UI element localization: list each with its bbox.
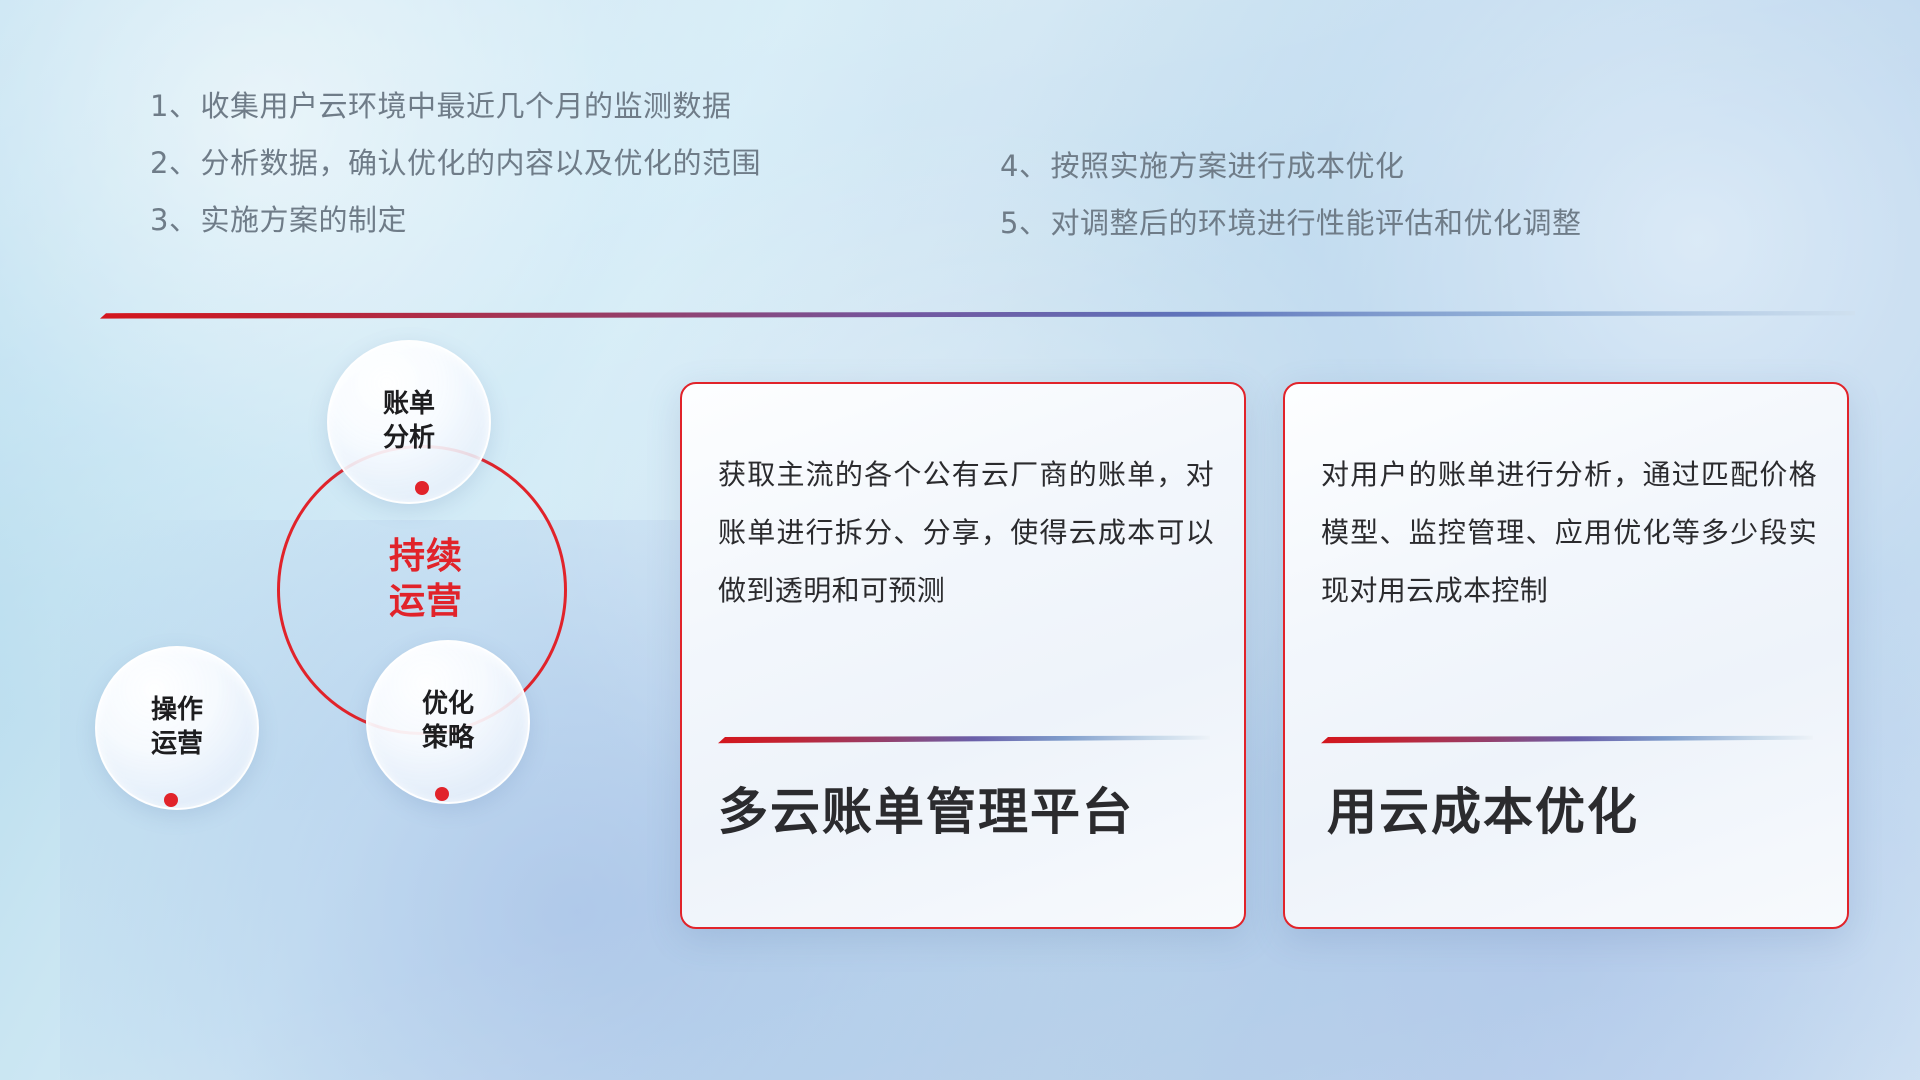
diagram-center-label-line1: 持续 [331, 534, 521, 579]
step-item-2: 2、分析数据，确认优化的内容以及优化的范围 [150, 149, 761, 178]
diagram-bubble-optimization-strategy[interactable]: 优化 策略 [366, 640, 530, 804]
bubble-label-line2: 分析 [383, 422, 435, 456]
slide-root: 1、收集用户云环境中最近几个月的监测数据 2、分析数据，确认优化的内容以及优化的… [0, 0, 1920, 1080]
step-text-1: 收集用户云环境中最近几个月的监测数据 [200, 89, 731, 123]
step-text-3: 实施方案的制定 [200, 203, 407, 237]
card-title: 用云成本优化 [1327, 784, 1819, 842]
diagram-node-dot-top-icon [415, 481, 429, 495]
info-card-multicloud-billing[interactable]: 获取主流的各个公有云厂商的账单，对账单进行拆分、分享，使得云成本可以做到透明和可… [680, 382, 1246, 929]
continuous-operation-diagram: 持续 运营 账单 分析 操作 运营 优化 策略 [95, 340, 615, 940]
step-item-3: 3、实施方案的制定 [150, 206, 761, 235]
info-card-cloud-cost-optimization[interactable]: 对用户的账单进行分析，通过匹配价格模型、监控管理、应用优化等多少段实现对用云成本… [1283, 382, 1849, 929]
step-item-5: 5、对调整后的环境进行性能评估和优化调整 [1000, 209, 1581, 238]
steps-list-right: 4、按照实施方案进行成本优化 5、对调整后的环境进行性能评估和优化调整 [1000, 152, 1581, 238]
bubble-label-line2: 策略 [422, 722, 474, 756]
bubble-label-line2: 运营 [151, 728, 203, 762]
step-item-1: 1、收集用户云环境中最近几个月的监测数据 [150, 92, 761, 121]
step-text-2: 分析数据，确认优化的内容以及优化的范围 [200, 146, 761, 180]
step-text-4: 按照实施方案进行成本优化 [1050, 149, 1404, 183]
step-number-2: 2、 [150, 146, 198, 180]
step-item-4: 4、按照实施方案进行成本优化 [1000, 152, 1581, 181]
bubble-label-line1: 优化 [422, 688, 474, 722]
diagram-node-dot-left-icon [164, 793, 178, 807]
card-title: 多云账单管理平台 [718, 784, 1216, 842]
bubble-label-line1: 操作 [151, 694, 203, 728]
step-number-4: 4、 [1000, 149, 1048, 183]
step-text-5: 对调整后的环境进行性能评估和优化调整 [1050, 206, 1581, 240]
card-accent-rule [1321, 735, 1813, 744]
diagram-bubble-bill-analysis[interactable]: 账单 分析 [327, 340, 491, 504]
card-body-text: 获取主流的各个公有云厂商的账单，对账单进行拆分、分享，使得云成本可以做到透明和可… [718, 446, 1214, 621]
step-number-5: 5、 [1000, 206, 1048, 240]
diagram-node-dot-right-icon [435, 787, 449, 801]
diagram-center-label-line2: 运营 [331, 579, 521, 624]
card-body-text: 对用户的账单进行分析，通过匹配价格模型、监控管理、应用优化等多少段实现对用云成本… [1321, 446, 1817, 621]
step-number-3: 3、 [150, 203, 198, 237]
diagram-center-label: 持续 运营 [331, 534, 521, 625]
section-divider [100, 311, 1855, 320]
diagram-bubble-operations[interactable]: 操作 运营 [95, 646, 259, 810]
bubble-label-line1: 账单 [383, 388, 435, 422]
steps-list-left: 1、收集用户云环境中最近几个月的监测数据 2、分析数据，确认优化的内容以及优化的… [150, 92, 761, 235]
card-accent-rule [718, 735, 1210, 744]
step-number-1: 1、 [150, 89, 198, 123]
